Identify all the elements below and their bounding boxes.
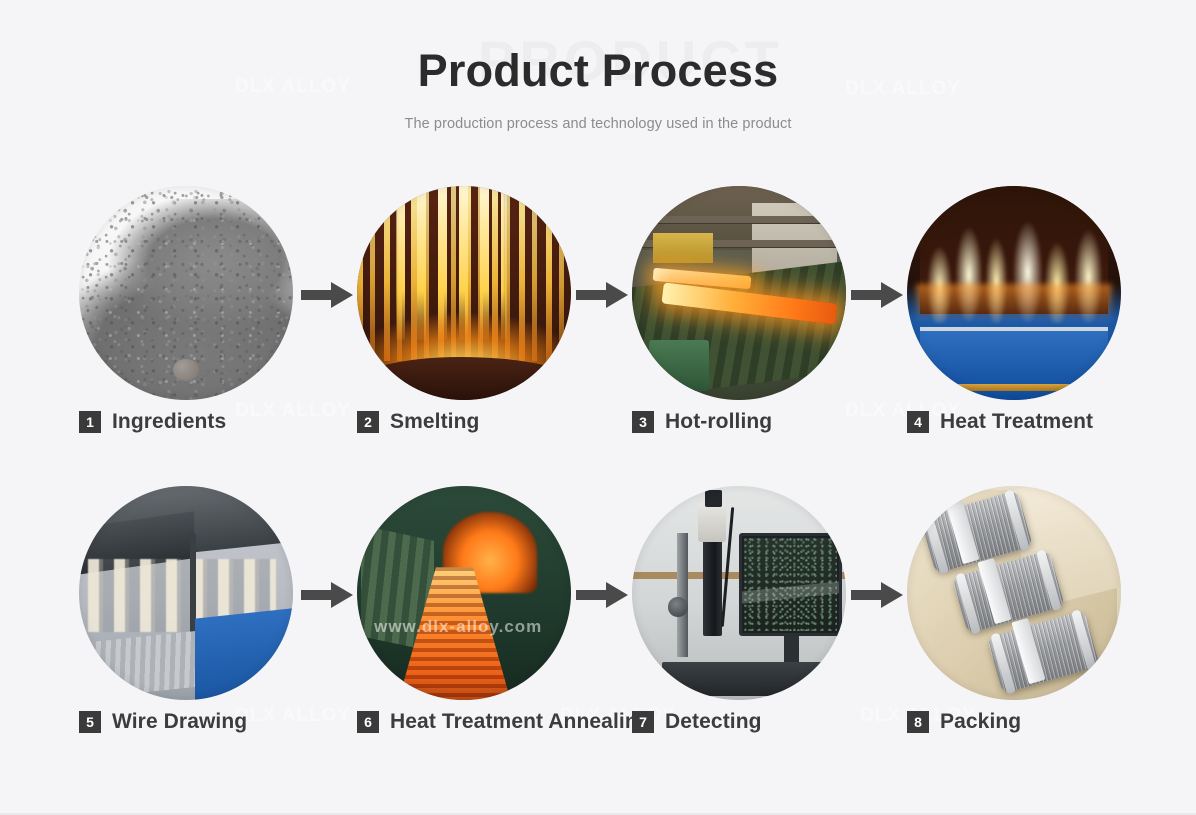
furnace-flames-quench-tank-photo — [907, 186, 1121, 400]
step-label: Smelting — [390, 410, 479, 434]
step-4-image-wrap — [907, 186, 1121, 400]
page-subtitle: The production process and technology us… — [0, 116, 1196, 132]
page-title: Product Process — [0, 44, 1196, 97]
hot-rolling-mill-photo — [632, 186, 846, 400]
step-label: Ingredients — [112, 410, 226, 434]
arrow-right-icon — [301, 582, 353, 608]
wire-spools-in-carton-photo — [907, 486, 1121, 700]
process-row-2: 5 Wire Drawing www.dlx-alloy.com — [0, 486, 1196, 791]
annealing-furnace-glowing-coil-photo: www.dlx-alloy.com — [357, 486, 571, 700]
arrow-right-icon — [851, 282, 903, 308]
step-number-badge: 1 — [79, 411, 101, 433]
step-5-caption: 5 Wire Drawing — [79, 710, 247, 734]
step-5-image-wrap — [79, 486, 293, 700]
step-7-caption: 7 Detecting — [632, 710, 762, 734]
process-step-4[interactable]: 4 Heat Treatment — [907, 186, 1121, 400]
step-number-badge: 3 — [632, 411, 654, 433]
step-number-badge: 5 — [79, 711, 101, 733]
molten-metal-pour-photo — [357, 186, 571, 400]
step-3-image-wrap — [632, 186, 846, 400]
process-step-8[interactable]: 8 Packing — [907, 486, 1121, 700]
step-1-caption: 1 Ingredients — [79, 410, 226, 434]
header: Product Process The production process a… — [0, 44, 1196, 132]
step-label: Packing — [940, 710, 1021, 734]
process-step-2[interactable]: 2 Smelting — [357, 186, 571, 400]
metal-powder-heap-photo — [79, 186, 293, 400]
product-process-infographic: PRODUCT DLX ALLOY DLX ALLOY DLX ALLOY DL… — [0, 0, 1196, 815]
step-label: Hot-rolling — [665, 410, 772, 434]
step-number-badge: 8 — [907, 711, 929, 733]
step-8-caption: 8 Packing — [907, 710, 1021, 734]
step-6-caption: 6 Heat Treatment Annealing — [357, 710, 651, 734]
microscope-inspection-monitor-photo — [632, 486, 846, 700]
image-watermark: www.dlx-alloy.com — [374, 617, 571, 637]
process-steps-grid: 1 Ingredients 2 — [0, 186, 1196, 791]
process-step-6[interactable]: www.dlx-alloy.com 6 Heat Treatment Annea… — [357, 486, 571, 700]
step-3-caption: 3 Hot-rolling — [632, 410, 772, 434]
step-number-badge: 2 — [357, 411, 379, 433]
step-label: Wire Drawing — [112, 710, 247, 734]
process-step-3[interactable]: 3 Hot-rolling — [632, 186, 846, 400]
step-2-image-wrap — [357, 186, 571, 400]
process-row-1: 1 Ingredients 2 — [0, 186, 1196, 491]
arrow-right-icon — [576, 582, 628, 608]
step-8-image-wrap — [907, 486, 1121, 700]
arrow-right-icon — [301, 282, 353, 308]
process-step-1[interactable]: 1 Ingredients — [79, 186, 293, 400]
wire-drawing-machine-photo — [79, 486, 293, 700]
step-label: Detecting — [665, 710, 762, 734]
step-number-badge: 7 — [632, 711, 654, 733]
step-4-caption: 4 Heat Treatment — [907, 410, 1093, 434]
process-step-5[interactable]: 5 Wire Drawing — [79, 486, 293, 700]
step-label: Heat Treatment Annealing — [390, 710, 651, 734]
process-step-7[interactable]: 7 Detecting — [632, 486, 846, 700]
arrow-right-icon — [851, 582, 903, 608]
step-label: Heat Treatment — [940, 410, 1093, 434]
step-2-caption: 2 Smelting — [357, 410, 479, 434]
step-number-badge: 4 — [907, 411, 929, 433]
step-number-badge: 6 — [357, 711, 379, 733]
step-1-image-wrap — [79, 186, 293, 400]
step-7-image-wrap — [632, 486, 846, 700]
arrow-right-icon — [576, 282, 628, 308]
step-6-image-wrap: www.dlx-alloy.com — [357, 486, 571, 700]
